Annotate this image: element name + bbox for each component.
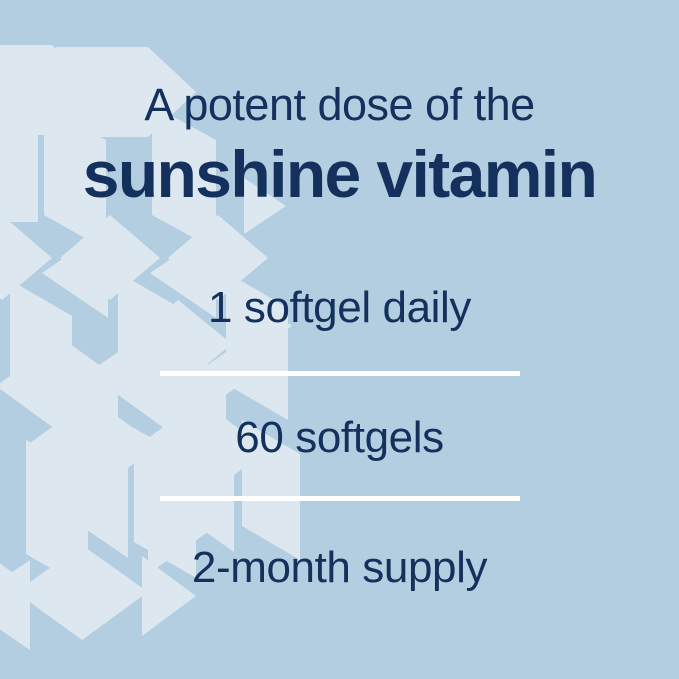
fact-count: 60 softgels xyxy=(0,412,679,464)
content-layer: A potent dose of the sunshine vitamin 1 … xyxy=(0,0,679,679)
headline-line-2: sunshine vitamin xyxy=(0,136,679,212)
headline-line-1: A potent dose of the xyxy=(0,79,679,131)
divider-above-supply xyxy=(160,496,520,501)
divider-above-count xyxy=(160,371,520,376)
product-claim-card: A potent dose of the sunshine vitamin 1 … xyxy=(0,0,679,679)
fact-supply: 2-month supply xyxy=(0,542,679,594)
fact-dosage: 1 softgel daily xyxy=(0,282,679,334)
